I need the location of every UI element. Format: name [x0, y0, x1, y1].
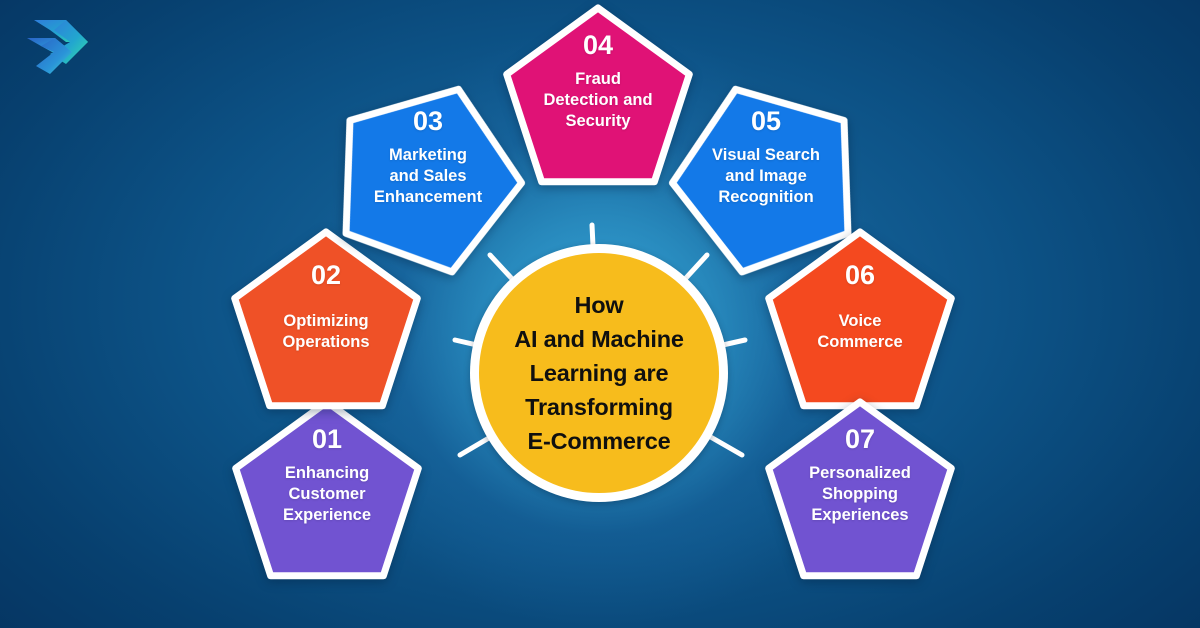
- node-shape-06: [762, 228, 958, 414]
- center-disc: How AI and Machine Learning are Transfor…: [479, 253, 719, 493]
- node-shape-07: [762, 398, 958, 584]
- infographic-canvas: 01Enhancing Customer Experience02Optimiz…: [0, 0, 1200, 628]
- node-06[interactable]: 06Voice Commerce: [762, 228, 958, 414]
- node-01[interactable]: 01Enhancing Customer Experience: [229, 398, 425, 584]
- center-hub[interactable]: How AI and Machine Learning are Transfor…: [470, 244, 728, 502]
- center-title: How AI and Machine Learning are Transfor…: [489, 288, 709, 458]
- node-07[interactable]: 07Personalized Shopping Experiences: [762, 398, 958, 584]
- node-03[interactable]: 03Marketing and Sales Enhancement: [330, 80, 526, 266]
- node-shape-01: [229, 398, 425, 584]
